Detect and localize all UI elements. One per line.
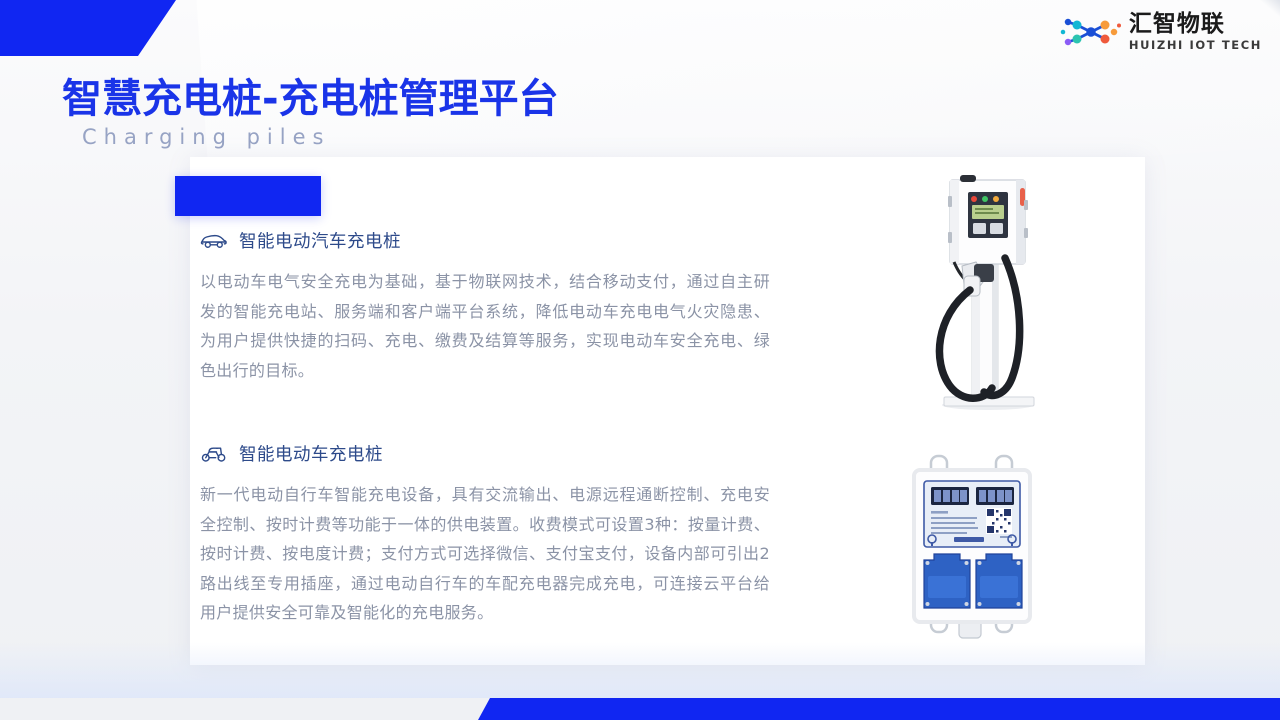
page-title: 智慧充电桩-充电桩管理平台 — [62, 66, 559, 124]
page-subtitle: Charging piles — [82, 125, 330, 149]
section-ev-car-pile: 智能电动汽车充电桩 以电动车电气安全充电为基础，基于物联网技术，结合移动支付，通… — [200, 228, 770, 385]
section-body: 新一代电动自行车智能充电设备，具有交流输出、电源远程通断控制、充电安全控制、按时… — [200, 480, 770, 628]
section-header: 智能电动汽车充电桩 — [200, 228, 770, 253]
charging-pile-illustration — [888, 166, 1098, 414]
ev-charging-pile-photo — [888, 166, 1098, 414]
section-header: 智能电动车充电桩 — [200, 441, 770, 466]
section-title: 智能电动车充电桩 — [239, 441, 383, 466]
section-body: 以电动车电气安全充电为基础，基于物联网技术，结合移动支付，通过自主研发的智能充电… — [200, 267, 770, 385]
dual-socket-charger-photo — [888, 448, 1098, 653]
section-ebike-pile: 智能电动车充电桩 新一代电动自行车智能充电设备，具有交流输出、电源远程通断控制、… — [200, 441, 770, 628]
dual-socket-charger-illustration — [888, 448, 1098, 653]
molecule-network-icon — [1060, 12, 1122, 52]
section-title: 智能电动汽车充电桩 — [239, 228, 401, 253]
brand-logo: 汇智物联 HUIZHI IOT TECH — [1060, 12, 1262, 52]
car-icon — [200, 231, 228, 251]
bottom-fade — [0, 642, 1280, 698]
brand-name-en: HUIZHI IOT TECH — [1129, 40, 1262, 52]
slide-root: 汇智物联 HUIZHI IOT TECH 智慧充电桩-充电桩管理平台 Charg… — [0, 0, 1280, 720]
scooter-icon — [200, 444, 228, 464]
brand-name-cn: 汇智物联 — [1129, 13, 1262, 36]
card-blue-tab[interactable] — [175, 176, 321, 216]
